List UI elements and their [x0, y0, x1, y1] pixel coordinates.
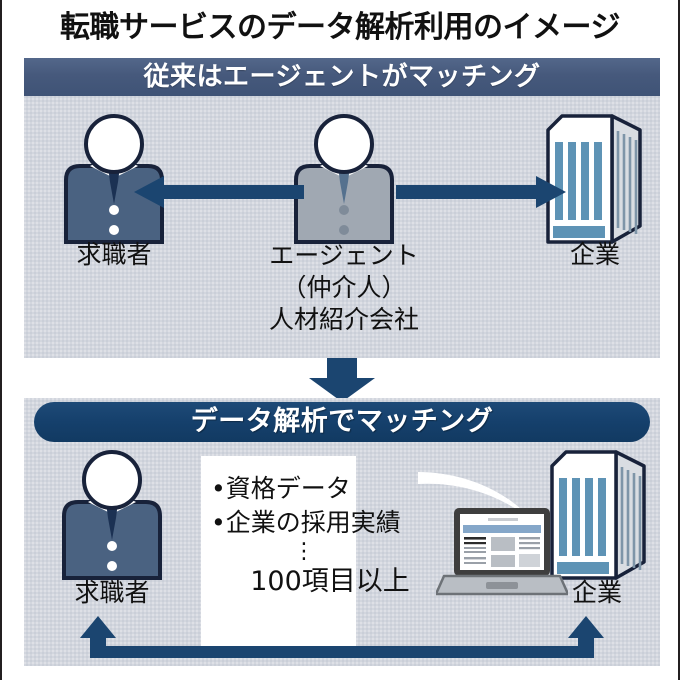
label-agent-line-3: 人材紹介会社 — [239, 304, 449, 336]
label-agent-line-1: エージェント — [239, 240, 449, 272]
arrow-agent-to-jobseeker — [134, 174, 304, 210]
data-items-card: •資格データ •企業の採用実績 ⋮ 100項目以上 — [201, 456, 356, 646]
section-data-banner: データ解析でマッチング — [34, 402, 650, 442]
section-traditional-matching: 従来はエージェントがマッチング 求職者 — [24, 58, 660, 358]
section-data-matching: データ解析でマッチング 求職者 •資格データ •企業の採用実績 ⋮ 100項目以… — [24, 398, 660, 666]
infographic-page: 転職サービスのデータ解析利用のイメージ 従来はエージェントがマッチング 求職者 — [0, 0, 680, 680]
laptop-icon — [436, 506, 568, 602]
down-arrow-transition — [305, 358, 379, 402]
data-ellipsis: ⋮ — [211, 540, 397, 564]
arrow-agent-to-company — [396, 174, 566, 210]
label-agent-line-2: （仲介人） — [239, 272, 449, 304]
person-icon-jobseeker-bottom — [54, 450, 170, 580]
data-total-count: 100項目以上 — [211, 564, 435, 600]
page-title: 転職サービスのデータ解析利用のイメージ — [2, 8, 678, 48]
label-agent: エージェント （仲介人） 人材紹介会社 — [239, 240, 449, 336]
section-traditional-banner: 従来はエージェントがマッチング — [24, 58, 660, 96]
label-jobseeker-top: 求職者 — [44, 240, 184, 270]
section-data-banner-wrap: データ解析でマッチング — [34, 402, 650, 442]
label-jobseeker-bottom: 求職者 — [42, 578, 182, 608]
label-company-top: 企業 — [530, 240, 660, 270]
